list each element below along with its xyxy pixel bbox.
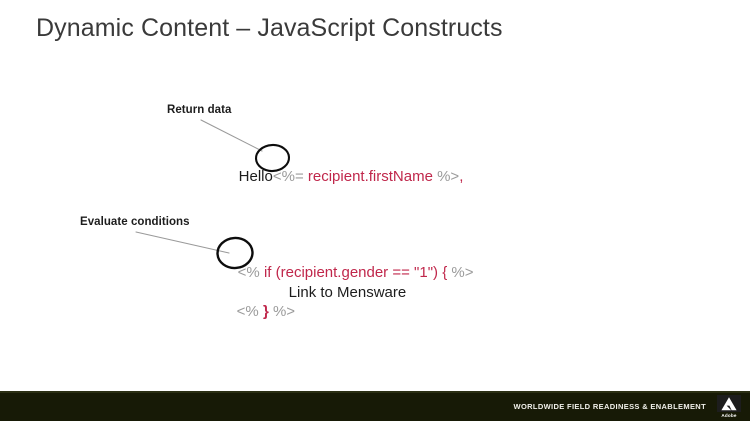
adobe-a-icon <box>717 395 741 412</box>
adobe-wordmark: Adobe <box>721 413 736 418</box>
code-token-greeting: Hello <box>239 168 273 185</box>
code-line-hello: Hello<%= recipient.firstName %>, <box>222 147 463 207</box>
code-token-comma: , <box>459 168 463 185</box>
leader-line-evaluate-conditions <box>136 232 229 253</box>
code-token-closing-brace: } <box>259 303 273 320</box>
code-token-link-label: Link to Mensware <box>289 284 407 301</box>
code-token-expression: recipient.firstName <box>304 168 437 185</box>
callout-label-evaluate-conditions: Evaluate conditions <box>80 216 190 228</box>
code-token-open-tag-equals: <%= <box>273 168 304 185</box>
adobe-logo: Adobe <box>714 395 744 419</box>
callout-label-return-data: Return data <box>167 104 231 116</box>
code-token-close-tag: %> <box>273 303 295 320</box>
code-token-open-tag: <% <box>237 303 259 320</box>
annotation-overlay <box>0 0 750 421</box>
code-token-open-tag: <% <box>238 264 260 281</box>
footer-tagline: WORLDWIDE FIELD READINESS & ENABLEMENT <box>514 402 706 411</box>
code-token-close-tag: %> <box>451 264 473 281</box>
code-line-closing-brace: <% } %> <box>220 282 295 342</box>
slide-canvas: Dynamic Content – JavaScript Constructs … <box>0 0 750 421</box>
code-token-close-tag: %> <box>437 168 459 185</box>
page-title: Dynamic Content – JavaScript Constructs <box>36 13 503 43</box>
